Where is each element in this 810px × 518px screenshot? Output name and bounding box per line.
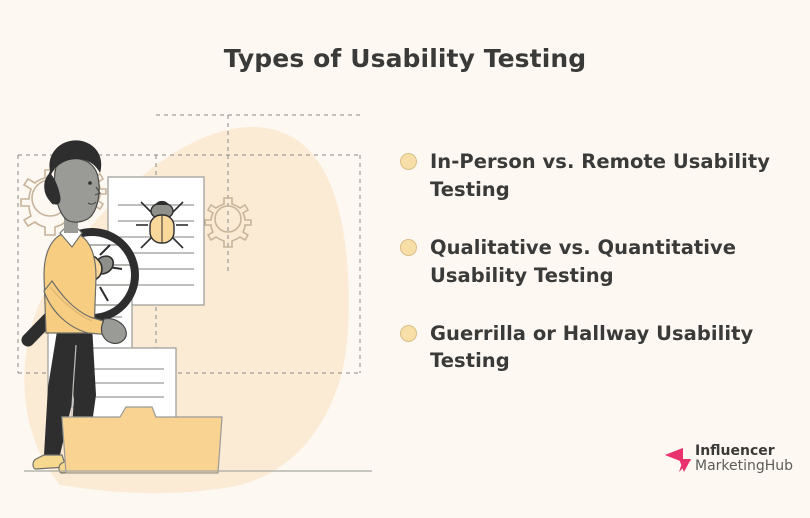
logo-wordmark: Influencer MarketingHub xyxy=(695,444,793,474)
bullet-label: Qualitative vs. Quantitative Usability T… xyxy=(430,234,800,290)
brand-logo[interactable]: Influencer MarketingHub xyxy=(665,444,793,474)
list-item: Guerrilla or Hallway Usability Testing xyxy=(400,320,800,376)
circle-bullet-icon xyxy=(400,153,417,170)
logo-line-2: MarketingHub xyxy=(695,459,793,474)
influencer-marketing-hub-arrow-icon xyxy=(665,446,691,474)
circle-bullet-icon xyxy=(400,239,417,256)
logo-hub-text: Hub xyxy=(765,458,793,474)
usability-testing-illustration xyxy=(0,95,400,495)
bullet-label: In-Person vs. Remote Usability Testing xyxy=(430,148,800,204)
logo-line-1: Influencer xyxy=(695,444,793,459)
list-item: In-Person vs. Remote Usability Testing xyxy=(400,148,800,204)
logo-marketing-text: Marketing xyxy=(695,458,765,474)
infographic-canvas: Types of Usability Testing xyxy=(0,0,810,518)
circle-bullet-icon xyxy=(400,325,417,342)
folder xyxy=(62,407,222,473)
list-item: Qualitative vs. Quantitative Usability T… xyxy=(400,234,800,290)
page-title: Types of Usability Testing xyxy=(0,44,810,73)
bullet-list: In-Person vs. Remote Usability Testing Q… xyxy=(400,148,800,405)
bullet-label: Guerrilla or Hallway Usability Testing xyxy=(430,320,800,376)
